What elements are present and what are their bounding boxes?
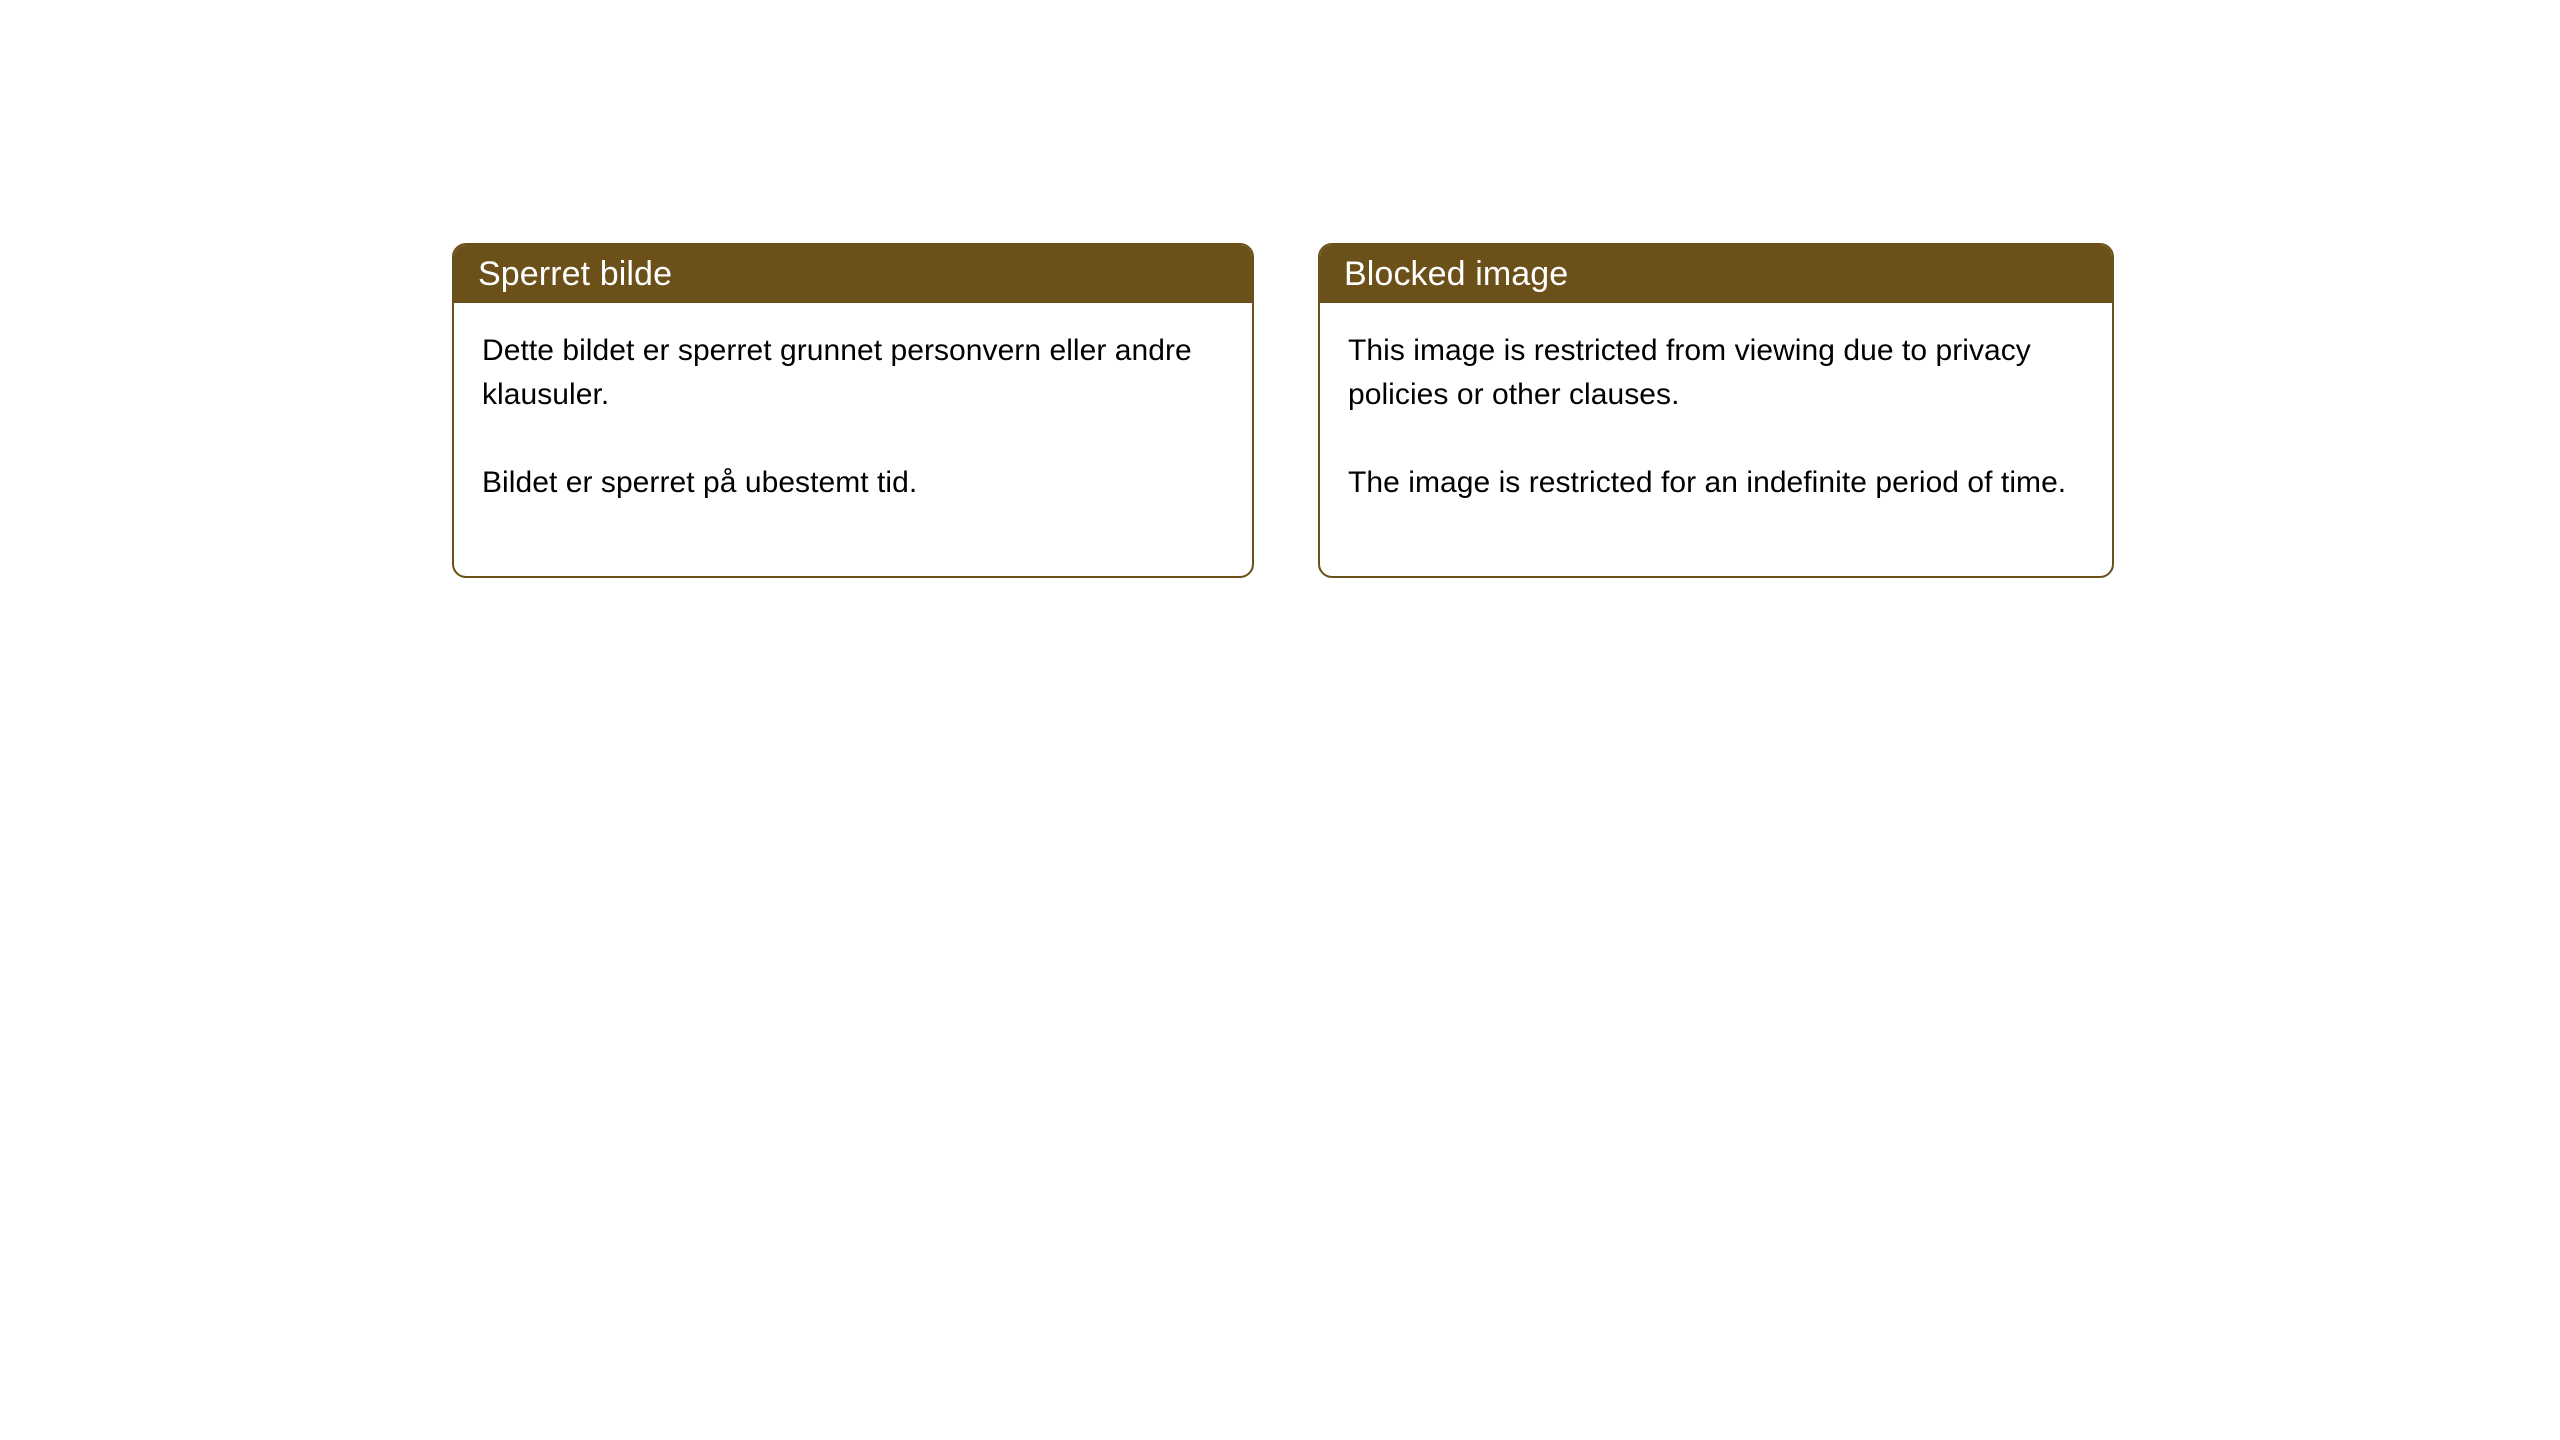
card-title-norwegian: Sperret bilde (478, 255, 672, 293)
card-title-english: Blocked image (1344, 255, 1568, 293)
card-header-norwegian: Sperret bilde (454, 245, 1252, 303)
card-paragraph-primary-english: This image is restricted from viewing du… (1348, 329, 2084, 417)
card-header-english: Blocked image (1320, 245, 2112, 303)
card-paragraph-primary-norwegian: Dette bildet er sperret grunnet personve… (482, 329, 1224, 417)
card-body-norwegian: Dette bildet er sperret grunnet personve… (454, 303, 1252, 505)
card-body-english: This image is restricted from viewing du… (1320, 303, 2112, 505)
blocked-image-notice-card-norwegian: Sperret bilde Dette bildet er sperret gr… (452, 243, 1254, 578)
card-paragraph-secondary-norwegian: Bildet er sperret på ubestemt tid. (482, 461, 1224, 505)
card-paragraph-secondary-english: The image is restricted for an indefinit… (1348, 461, 2084, 505)
blocked-image-notice-card-english: Blocked image This image is restricted f… (1318, 243, 2114, 578)
page-root: Sperret bilde Dette bildet er sperret gr… (0, 0, 2560, 1440)
